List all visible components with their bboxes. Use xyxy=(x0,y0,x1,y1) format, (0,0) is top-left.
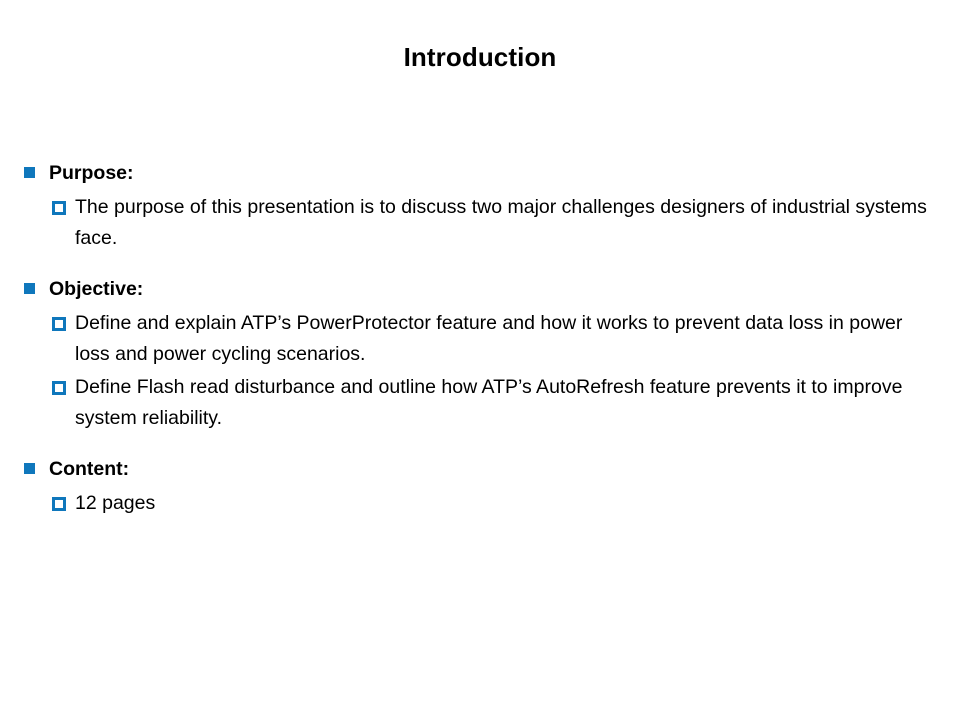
bullet-level1-content: Content: xyxy=(24,456,940,482)
bullet-level1-label: Content: xyxy=(49,456,129,482)
bullet-level2-item: Define Flash read disturbance and outlin… xyxy=(24,372,940,434)
bullet-level2-label: 12 pages xyxy=(75,488,155,519)
bullet-level2-label: The purpose of this presentation is to d… xyxy=(75,192,935,254)
bullet-level2-label: Define Flash read disturbance and outlin… xyxy=(75,372,935,434)
bullet-level1-label: Objective: xyxy=(49,276,143,302)
hollow-square-bullet-icon xyxy=(52,317,66,331)
presentation-slide: Introduction Purpose: The purpose of thi… xyxy=(0,0,960,720)
bullet-level1-purpose: Purpose: xyxy=(24,160,940,186)
page-title: Introduction xyxy=(0,42,960,73)
filled-square-bullet-icon xyxy=(24,283,35,294)
filled-square-bullet-icon xyxy=(24,167,35,178)
bullet-level2-label: Define and explain ATP’s PowerProtector … xyxy=(75,308,935,370)
content-group-purpose: Purpose: The purpose of this presentatio… xyxy=(24,160,940,254)
hollow-square-bullet-icon xyxy=(52,497,66,511)
hollow-square-bullet-icon xyxy=(52,381,66,395)
content-group-content: Content: 12 pages xyxy=(24,456,940,519)
bullet-level2-item: 12 pages xyxy=(24,488,940,519)
filled-square-bullet-icon xyxy=(24,463,35,474)
hollow-square-bullet-icon xyxy=(52,201,66,215)
slide-body: Purpose: The purpose of this presentatio… xyxy=(24,160,940,519)
bullet-level1-objective: Objective: xyxy=(24,276,940,302)
content-group-objective: Objective: Define and explain ATP’s Powe… xyxy=(24,276,940,434)
bullet-level1-label: Purpose: xyxy=(49,160,134,186)
bullet-level2-item: Define and explain ATP’s PowerProtector … xyxy=(24,308,940,370)
bullet-level2-item: The purpose of this presentation is to d… xyxy=(24,192,940,254)
